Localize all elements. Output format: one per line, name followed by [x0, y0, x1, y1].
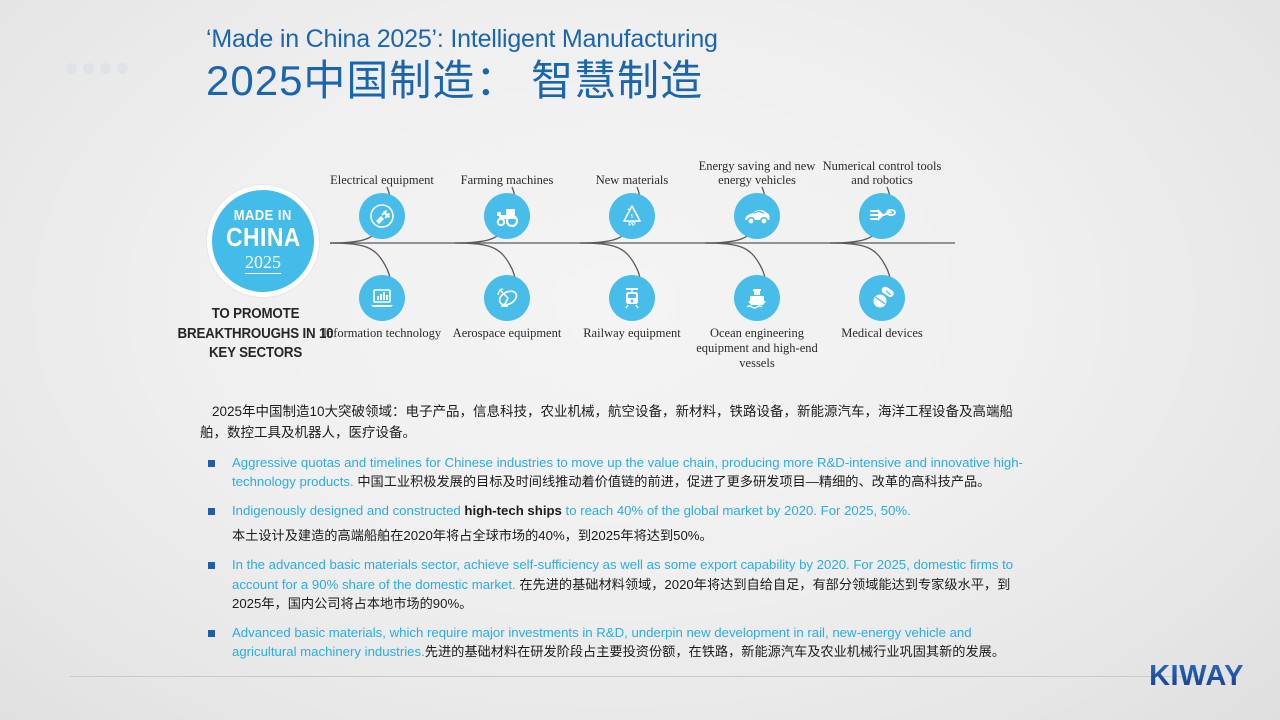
badge-line-2: CHINA [226, 224, 301, 251]
deco-dot [117, 63, 128, 74]
sector-label: Information technology [317, 326, 447, 341]
deco-dot [100, 63, 111, 74]
bullet-text-english-post: to reach 40% of the global market by 202… [562, 503, 911, 518]
slide-title-block: ‘Made in China 2025’: Intelligent Manufa… [206, 26, 718, 105]
bullet-text-chinese: 本土设计及建造的高端船舶在2020年将占全球市场的40%，到2025年将达到50… [232, 526, 1030, 546]
sector-node-new-materials: New materials 5 PP [567, 129, 697, 239]
bullet-text-english-pre: Indigenously designed and constructed [232, 503, 464, 518]
sector-node-numerical-control-robotics: Numerical control tools and robotics [817, 129, 947, 239]
sector-node-railway-equipment: Railway equipment [567, 275, 697, 341]
deco-dot [66, 63, 77, 74]
deco-dot [83, 63, 94, 74]
pills-icon [859, 275, 905, 321]
body-text-area: 2025年中国制造10大突破领域：电子产品，信息科技，农业机械，航空设备，新材料… [200, 402, 1030, 671]
sector-node-electrical-equipment: Electrical equipment [317, 129, 447, 239]
svg-text:PP: PP [628, 222, 636, 228]
bullet-text: Aggressive quotas and timelines for Chin… [232, 453, 1030, 492]
sector-label: Farming machines [442, 173, 572, 188]
sector-label: Aerospace equipment [442, 326, 572, 341]
sector-node-farming-machines: Farming machines [442, 129, 572, 239]
bullet-marker-icon [208, 460, 215, 467]
ship-icon [734, 275, 780, 321]
sector-node-medical-devices: Medical devices [817, 275, 947, 341]
tractor-icon [484, 193, 530, 239]
satellite-dish-icon [484, 275, 530, 321]
bullet-marker-icon [208, 508, 215, 515]
sector-node-ocean-engineering: Ocean engineering equipment and high-end… [692, 275, 822, 370]
intro-paragraph-chinese: 2025年中国制造10大突破领域：电子产品，信息科技，农业机械，航空设备，新材料… [200, 402, 1030, 444]
sector-label: Electrical equipment [317, 173, 447, 188]
sector-label: Numerical control tools and robotics [817, 159, 947, 189]
bullet-text-chinese: 先进的基础材料在研发阶段占主要投资份额，在铁路，新能源汽车及农业机械行业巩固其新… [425, 644, 1005, 659]
slide-title-english: ‘Made in China 2025’: Intelligent Manufa… [206, 26, 718, 54]
bullet-item: Indigenously designed and constructed hi… [200, 501, 1030, 546]
bullet-text: Advanced basic materials, which require … [232, 623, 1030, 662]
svg-text:5: 5 [631, 214, 634, 220]
train-icon [609, 275, 655, 321]
sector-label: Ocean engineering equipment and high-end… [692, 326, 822, 370]
recycle-pp-icon: 5 PP [609, 193, 655, 239]
bullet-text: In the advanced basic materials sector, … [232, 555, 1030, 614]
bullet-text: Indigenously designed and constructed hi… [232, 501, 1030, 521]
made-in-china-badge: MADE IN CHINA 2025 [207, 185, 319, 297]
made-in-china-infographic: MADE IN CHINA 2025 TO PROMOTE BREAKTHROU… [195, 125, 985, 385]
sector-label: Energy saving and new energy vehicles [692, 159, 822, 189]
sector-node-energy-saving-vehicles: Energy saving and new energy vehicles [692, 129, 822, 239]
badge-caption: TO PROMOTE BREAKTHROUGHS IN 10 KEY SECTO… [170, 305, 340, 364]
badge-circle: MADE IN CHINA 2025 [207, 185, 319, 297]
slide-title-chinese: 2025中国制造： 智慧制造 [206, 56, 718, 106]
badge-line-1: MADE IN [234, 208, 292, 223]
kiway-logo: KIWAY [1149, 660, 1244, 693]
plug-icon [359, 193, 405, 239]
badge-line-3: 2025 [245, 253, 281, 274]
footer-divider [70, 676, 1202, 677]
car-icon [734, 193, 780, 239]
sector-label: Railway equipment [567, 326, 697, 341]
decorative-dots [66, 63, 128, 74]
sector-node-information-technology: Information technology [317, 275, 447, 341]
bullet-marker-icon [208, 630, 215, 637]
bullet-item: In the advanced basic materials sector, … [200, 555, 1030, 614]
laptop-chart-icon [359, 275, 405, 321]
bullet-item: Aggressive quotas and timelines for Chin… [200, 453, 1030, 492]
bullet-item: Advanced basic materials, which require … [200, 623, 1030, 662]
bullet-text-english-bold: high-tech ships [464, 503, 561, 518]
sector-label: New materials [567, 173, 697, 188]
sector-node-aerospace-equipment: Aerospace equipment [442, 275, 572, 341]
bullet-marker-icon [208, 562, 215, 569]
bullet-text-chinese: 中国工业积极发展的目标及时间线推动着价值链的前进，促进了更多研发项目—精细的、改… [357, 474, 990, 489]
bullet-list: Aggressive quotas and timelines for Chin… [200, 453, 1030, 662]
robot-arm-icon [859, 193, 905, 239]
sector-label: Medical devices [817, 326, 947, 341]
